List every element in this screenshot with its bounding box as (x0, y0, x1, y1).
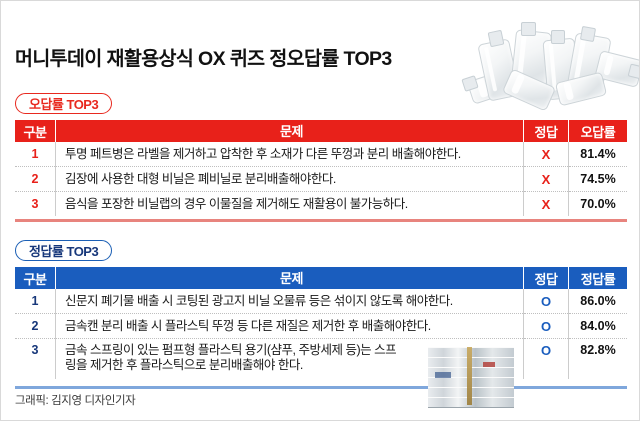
table-wrong-rate: 구분 문제 정답 오답률 1 투명 페트병은 라벨을 제거하고 압착한 후 소재… (15, 120, 627, 216)
column-header-rank: 구분 (15, 267, 56, 289)
badge-correct-rate: 정답률 TOP3 (15, 240, 112, 261)
twine (467, 347, 472, 405)
table-correct-rate: 구분 문제 정답 정답률 1 신문지 폐기물 배출 시 코팅된 광고지 비닐 오… (15, 267, 627, 379)
cell-answer: O (524, 289, 569, 314)
table-row: 3 음식을 포장한 비닐랩의 경우 이물질을 제거해도 재활용이 불가능하다. … (15, 192, 627, 217)
cell-answer: O (524, 339, 569, 379)
column-header-rate: 오답률 (569, 120, 628, 142)
table-header-row: 구분 문제 정답 정답률 (15, 267, 627, 289)
cell-rate: 86.0% (569, 289, 628, 314)
cell-rank: 2 (15, 314, 56, 339)
newsprint-blue-mark (435, 372, 451, 378)
newsprint-red-mark (483, 362, 495, 367)
cell-rate: 81.4% (569, 142, 628, 167)
cell-question: 금속캔 분리 배출 시 플라스틱 뚜껑 등 다른 재질은 제거한 후 배출해야한… (56, 314, 524, 339)
page-title: 머니투데이 재활용상식 OX 퀴즈 정오답률 TOP3 (15, 42, 392, 71)
column-header-question: 문제 (56, 267, 524, 289)
cell-rank: 3 (15, 339, 56, 379)
cell-rank: 3 (15, 192, 56, 217)
table-header-row: 구분 문제 정답 오답률 (15, 120, 627, 142)
cell-rate: 82.8% (569, 339, 628, 379)
table-bottom-rule-correct (15, 386, 627, 389)
table-row: 1 투명 페트병은 라벨을 제거하고 압착한 후 소재가 다른 뚜껑과 분리 배… (15, 142, 627, 167)
cell-answer: X (524, 192, 569, 217)
cell-rate: 74.5% (569, 167, 628, 192)
cell-question: 신문지 폐기물 배출 시 코팅된 광고지 비닐 오물류 등은 섞이지 않도록 해… (56, 289, 524, 314)
table-row: 2 김장에 사용한 대형 비닐은 폐비닐로 분리배출해야한다. X 74.5% (15, 167, 627, 192)
cell-rank: 1 (15, 289, 56, 314)
cell-answer: X (524, 167, 569, 192)
cell-rank: 1 (15, 142, 56, 167)
column-header-rank: 구분 (15, 120, 56, 142)
graphic-credit: 그래픽: 김지영 디자인기자 (15, 392, 135, 408)
cell-rate: 70.0% (569, 192, 628, 217)
badge-wrong-rate: 오답률 TOP3 (15, 93, 112, 114)
plastic-bottles-photo (461, 19, 640, 123)
table-row: 1 신문지 폐기물 배출 시 코팅된 광고지 비닐 오물류 등은 섞이지 않도록… (15, 289, 627, 314)
infographic-canvas: 머니투데이 재활용상식 OX 퀴즈 정오답률 TOP3 오답률 TOP3 구분 … (0, 0, 640, 421)
table-row: 2 금속캔 분리 배출 시 플라스틱 뚜껑 등 다른 재질은 제거한 후 배출해… (15, 314, 627, 339)
column-header-question: 문제 (56, 120, 524, 142)
cell-question: 음식을 포장한 비닐랩의 경우 이물질을 제거해도 재활용이 불가능하다. (56, 192, 524, 217)
cell-rate: 84.0% (569, 314, 628, 339)
newspaper-stack-photo (425, 347, 517, 409)
column-header-answer: 정답 (524, 120, 569, 142)
column-header-answer: 정답 (524, 267, 569, 289)
table-row: 3 금속 스프링이 있는 펌프형 플라스틱 용기(샴푸, 주방세제 등)는 스프… (15, 339, 627, 379)
column-header-rate: 정답률 (569, 267, 628, 289)
cell-rank: 2 (15, 167, 56, 192)
cell-question: 투명 페트병은 라벨을 제거하고 압착한 후 소재가 다른 뚜껑과 분리 배출해… (56, 142, 524, 167)
cell-answer: X (524, 142, 569, 167)
cell-answer: O (524, 314, 569, 339)
table-bottom-rule-wrong (15, 219, 627, 222)
cell-question: 김장에 사용한 대형 비닐은 폐비닐로 분리배출해야한다. (56, 167, 524, 192)
